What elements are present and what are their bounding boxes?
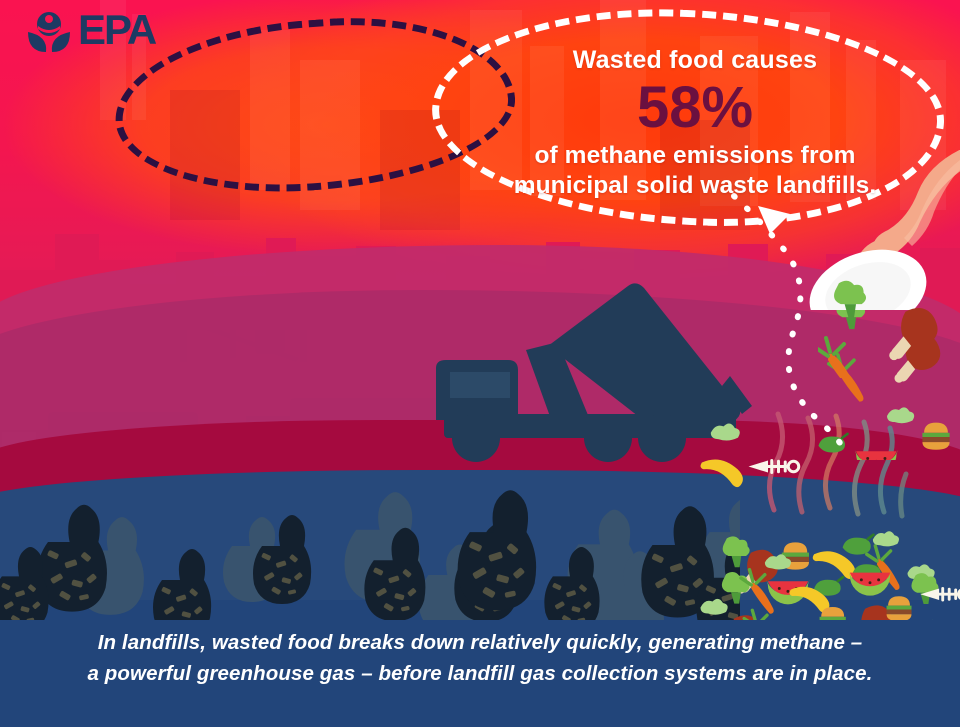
caption-line-1: In landfills, wasted food breaks down re… — [0, 628, 960, 659]
callout-line-1: Wasted food causes — [495, 45, 895, 76]
caption-block: In landfills, wasted food breaks down re… — [0, 628, 960, 690]
epa-seal-icon — [26, 10, 72, 54]
epa-wordmark: EPA — [78, 6, 155, 54]
trash-bag-field — [0, 470, 740, 620]
callout-text-block: Wasted food causes 58% of methane emissi… — [495, 45, 895, 202]
callout-line-3: of methane emissions from — [495, 141, 895, 171]
infographic-canvas: Wasted food causes 58% of methane emissi… — [0, 0, 960, 727]
callout-stat: 58% — [495, 78, 895, 139]
callout-line-4: municipal solid waste landfills. — [495, 171, 895, 201]
caption-line-2: a powerful greenhouse gas – before landf… — [0, 659, 960, 690]
epa-logo[interactable]: EPA — [26, 8, 171, 56]
